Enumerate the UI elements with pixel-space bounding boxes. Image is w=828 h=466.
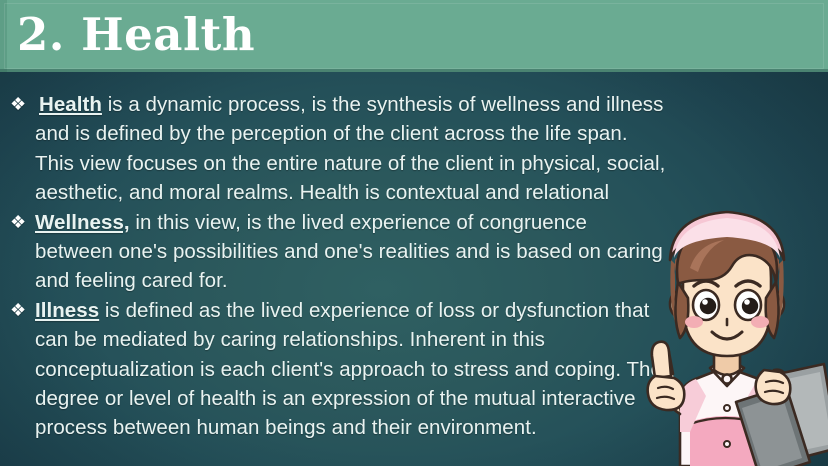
list-item-text: Illness is defined as the lived experien… bbox=[35, 296, 670, 443]
diamond-bullet-icon: ❖ bbox=[10, 296, 35, 325]
term-health: Health bbox=[35, 93, 102, 116]
diamond-bullet-icon: ❖ bbox=[10, 208, 35, 237]
list-item: ❖ Wellness, in this view, is the lived e… bbox=[10, 208, 670, 296]
diamond-bullet-icon: ❖ bbox=[10, 90, 35, 119]
term-wellness: Wellness, bbox=[35, 211, 130, 234]
content-body: ❖ Health is a dynamic process, is the sy… bbox=[10, 90, 670, 443]
definition-illness: is defined as the lived experience of lo… bbox=[35, 299, 662, 440]
definition-health: is a dynamic process, is the synthesis o… bbox=[35, 93, 665, 204]
term-illness: Illness bbox=[35, 299, 99, 322]
page-title: 2. Health bbox=[17, 4, 255, 66]
list-item: ❖ Illness is defined as the lived experi… bbox=[10, 296, 670, 443]
list-item: ❖ Health is a dynamic process, is the sy… bbox=[10, 90, 670, 208]
list-item-text: Wellness, in this view, is the lived exp… bbox=[35, 208, 670, 296]
title-band-left-accent bbox=[0, 0, 7, 72]
title-band-bottom-edge bbox=[0, 69, 828, 72]
list-item-text: Health is a dynamic process, is the synt… bbox=[35, 90, 670, 208]
slide-canvas: 2. Health ❖ Health is a dynamic process,… bbox=[0, 0, 828, 466]
